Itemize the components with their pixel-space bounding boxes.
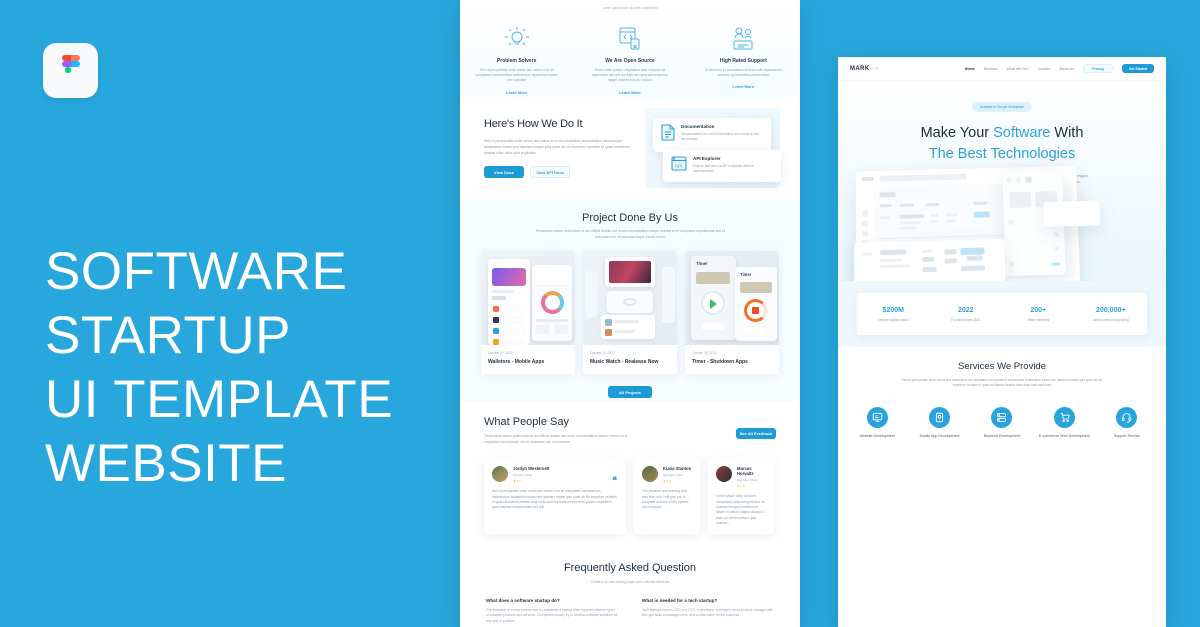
project-date: October 24, 2022 — [590, 351, 670, 355]
navbar: MARKETR Home Services What We Do? Contac… — [838, 57, 1166, 81]
rating-stars: ★ 5.0 — [513, 479, 549, 483]
project-title: Music Watch - Realease Now — [590, 359, 670, 365]
service-item[interactable]: Mobile App Development — [914, 407, 966, 440]
faq-section: Frequently Asked Question Create your ow… — [460, 552, 800, 627]
feature-desc: Sed ut perspiciatis unde omnis iste natu… — [474, 68, 560, 84]
stat-label: Venture capital raised — [857, 318, 930, 322]
mobile-gear-icon — [929, 407, 950, 428]
see-all-feedback-button[interactable]: See All Feedback — [736, 428, 776, 439]
service-name: E-commerce Web Development — [1038, 434, 1090, 440]
title-line-3: UI TEMPLATE — [45, 368, 445, 432]
project-date: October 30, 2022 — [692, 351, 772, 355]
feature-card: We Are Open Source Nemo enim ipsam volup… — [580, 22, 680, 95]
page-title: SOFTWARE STARTUP UI TEMPLATE WEBSITE — [45, 240, 445, 496]
stat-value: 200+ — [1002, 307, 1075, 314]
feature-card: Problem Solvers Sed ut perspiciatis unde… — [467, 22, 567, 95]
project-card[interactable]: October 20, 2022 Walletors - Mobile Apps — [481, 251, 575, 374]
stat-item: 200,000+ Active users and growing — [1075, 307, 1148, 322]
feature-learn-more-link[interactable]: Learn More — [506, 90, 528, 95]
stat-label: Active users and growing — [1075, 318, 1148, 322]
testimonials-subtitle: Temporibus autem quibusdam et aut offici… — [484, 434, 634, 445]
feature-title: High Rated Support — [720, 58, 767, 64]
features-intro: Lorem ipsum dolor sit amet consectetur — [460, 6, 800, 10]
brand-panel: SOFTWARE STARTUP UI TEMPLATE WEBSITE — [0, 0, 460, 627]
faq-title: Frequently Asked Question — [460, 562, 800, 574]
feature-desc: At vero eos et accusamus et iusto odio d… — [700, 68, 786, 78]
open-source-code-icon — [617, 22, 643, 56]
view-docs-button[interactable]: View Docs — [484, 166, 524, 178]
faq-question: What is needed for a tech startup? — [642, 598, 774, 603]
middle-page-mockup: Lorem ipsum dolor sit amet consectetur P… — [460, 0, 800, 627]
testimonial-role: Director, Tesla — [513, 473, 549, 477]
document-file-icon — [661, 124, 675, 146]
nav-link-contact[interactable]: Contact — [1038, 67, 1050, 71]
right-page-mockup: MARKETR Home Services What We Do? Contac… — [838, 57, 1166, 627]
faq-answer: The formation of a new venture that is c… — [486, 608, 618, 624]
project-date: October 20, 2022 — [488, 351, 568, 355]
testimonial-body: The pleasure and praising pain was born … — [642, 489, 692, 511]
avatar — [716, 466, 732, 482]
services-section: Services We Provide Sed ut perspiciatis … — [838, 347, 1166, 459]
service-item[interactable]: Support Service — [1101, 407, 1153, 440]
how-we-do-it-section: Here's How We Do It Sed ut perspiciatis … — [460, 100, 800, 200]
stat-value: 2022 — [930, 307, 1003, 314]
dashboard-preview — [856, 164, 1151, 289]
stat-item: 2022 Founded since 2022 — [930, 307, 1003, 322]
stat-item: $200M Venture capital raised — [857, 307, 930, 322]
documentation-card[interactable]: Documentation Documentation is a set of … — [653, 118, 771, 152]
title-line-1: SOFTWARE — [45, 240, 445, 304]
stat-label: Team members — [1002, 318, 1075, 322]
nav-link-home[interactable]: Home — [965, 67, 975, 71]
project-card[interactable]: October 24, 2022 Music Watch - Realease … — [583, 251, 677, 374]
service-name: Mobile App Development — [914, 434, 966, 440]
quote-icon: ❝ — [612, 475, 617, 486]
stat-item: 200+ Team members — [1002, 307, 1075, 322]
figma-logo-badge — [43, 43, 98, 98]
website-monitor-icon — [867, 407, 888, 428]
wallet-app-screens — [481, 251, 575, 345]
faq-answer: Tech startups need a CEO or a CTO, a dev… — [642, 608, 774, 619]
service-name: Support Service — [1101, 434, 1153, 440]
stat-value: 200,000+ — [1075, 307, 1148, 314]
title-line-2: STARTUP — [45, 304, 445, 368]
testimonial-role: Engineer, Meta — [737, 478, 766, 482]
service-name: Website Development — [851, 434, 903, 440]
pricing-button[interactable]: Pricing — [1083, 64, 1113, 73]
testimonial-card: Kiana Stanton Manager, Uber ★ 5.0 The pl… — [634, 459, 700, 533]
doc-card-title: API Explorer — [693, 156, 773, 161]
ecommerce-cart-icon — [1054, 407, 1075, 428]
music-watch-screens — [583, 251, 677, 345]
hero-heading: Make Your Software With The Best Technol… — [838, 123, 1166, 165]
service-item[interactable]: E-commerce Web Development — [1038, 407, 1090, 440]
stat-label: Founded since 2022 — [930, 318, 1003, 322]
avatar — [492, 466, 508, 482]
testimonials-title: What People Say — [484, 416, 776, 428]
how-we-do-it-desc: Sed ut perspiciatis unde omnis iste natu… — [484, 138, 634, 156]
testimonial-card: Marcus Horvaltz Engineer, Meta ★ 4.9 Lor… — [708, 459, 774, 533]
service-item[interactable]: Backend Development — [976, 407, 1028, 440]
testimonial-name: Kiana Stanton — [663, 466, 691, 471]
faq-question: What does a software startup do? — [486, 598, 618, 603]
view-api-docs-button[interactable]: View API Docs — [530, 166, 570, 178]
testimonial-role: Manager, Uber — [663, 473, 691, 477]
rating-stars: ★ 5.0 — [663, 479, 691, 483]
faq-item[interactable]: What is needed for a tech startup? Tech … — [642, 598, 774, 624]
service-item[interactable]: Website Development — [851, 407, 903, 440]
project-title: Walletors - Mobile Apps — [488, 359, 568, 365]
testimonial-body: Lorem ipsum dolor sit amet consectetur a… — [716, 494, 766, 526]
stats-section: $200M Venture capital raised 2022 Founde… — [838, 281, 1166, 347]
projects-section: Project Done By Us Temporibus autem quib… — [460, 200, 800, 402]
projects-subtitle: Temporibus autem quibusdam et aut offici… — [535, 229, 725, 240]
avatar — [642, 466, 658, 482]
timer-app-screens: Timer Timer — [685, 251, 779, 345]
status-badge: Available in Google Workspace — [972, 102, 1032, 112]
feature-card: High Rated Support At vero eos et accusa… — [693, 22, 793, 95]
projects-title: Project Done By Us — [460, 212, 800, 224]
services-title: Services We Provide — [838, 361, 1166, 372]
faq-subtitle: Create your own landing pages with unlim… — [460, 580, 800, 584]
testimonial-body: Sed ut perspiciatis unde omnis iste natu… — [492, 489, 618, 511]
testimonial-name: Marcus Horvaltz — [737, 466, 766, 476]
rated-support-icon — [730, 22, 756, 56]
get-started-button[interactable]: Get Started — [1122, 64, 1154, 73]
all-projects-button[interactable]: All Projects — [608, 386, 652, 398]
nav-link-about-us[interactable]: About Us — [1059, 67, 1074, 71]
feature-title: We Are Open Source — [605, 58, 654, 64]
nav-link-services[interactable]: Services — [984, 67, 998, 71]
doc-card-desc: Explore and test our API endpoints with … — [693, 164, 773, 174]
project-card[interactable]: Timer Timer October 30, — [685, 251, 779, 374]
rating-stars: ★ 4.9 — [737, 484, 766, 488]
api-browser-icon: API — [671, 156, 687, 176]
faq-item[interactable]: What does a software startup do? The for… — [486, 598, 618, 624]
nav-link-what-we-do[interactable]: What We Do? — [1007, 67, 1029, 71]
features-section: Lorem ipsum dolor sit amet consectetur P… — [460, 0, 800, 100]
backend-server-icon — [991, 407, 1012, 428]
service-name: Backend Development — [976, 434, 1028, 440]
feature-learn-more-link[interactable]: Learn More — [619, 90, 641, 95]
docs-card-stack: Documentation Documentation is a set of … — [645, 108, 780, 188]
how-we-do-it-title: Here's How We Do It — [484, 118, 634, 130]
title-line-4: WEBSITE — [45, 432, 445, 496]
site-logo[interactable]: MARKETR — [850, 66, 879, 72]
lightbulb-idea-icon — [504, 22, 530, 56]
feature-desc: Nemo enim ipsam voluptatem quia voluptas… — [587, 68, 673, 84]
support-headset-icon — [1116, 407, 1137, 428]
testimonials-section: What People Say Temporibus autem quibusd… — [460, 402, 800, 552]
hero-section: Available in Google Workspace Make Your … — [838, 81, 1166, 281]
doc-card-title: Documentation — [681, 124, 763, 129]
services-subtitle: Sed ut perspiciatis unde omnis iste natu… — [900, 378, 1105, 389]
stat-value: $200M — [857, 307, 930, 314]
feature-title: Problem Solvers — [497, 58, 536, 64]
api-explorer-card[interactable]: API API Explorer Explore and test our AP… — [663, 150, 781, 182]
svg-text:API: API — [675, 164, 682, 169]
testimonial-name: Jordyn Westervelt — [513, 466, 549, 471]
doc-card-desc: Documentation is a set of information ab… — [681, 132, 763, 142]
testimonial-card: Jordyn Westervelt Director, Tesla ★ 5.0 … — [484, 459, 626, 533]
feature-learn-more-link[interactable]: Learn More — [733, 84, 755, 89]
project-title: Timer - Shutdown Apps — [692, 359, 772, 365]
